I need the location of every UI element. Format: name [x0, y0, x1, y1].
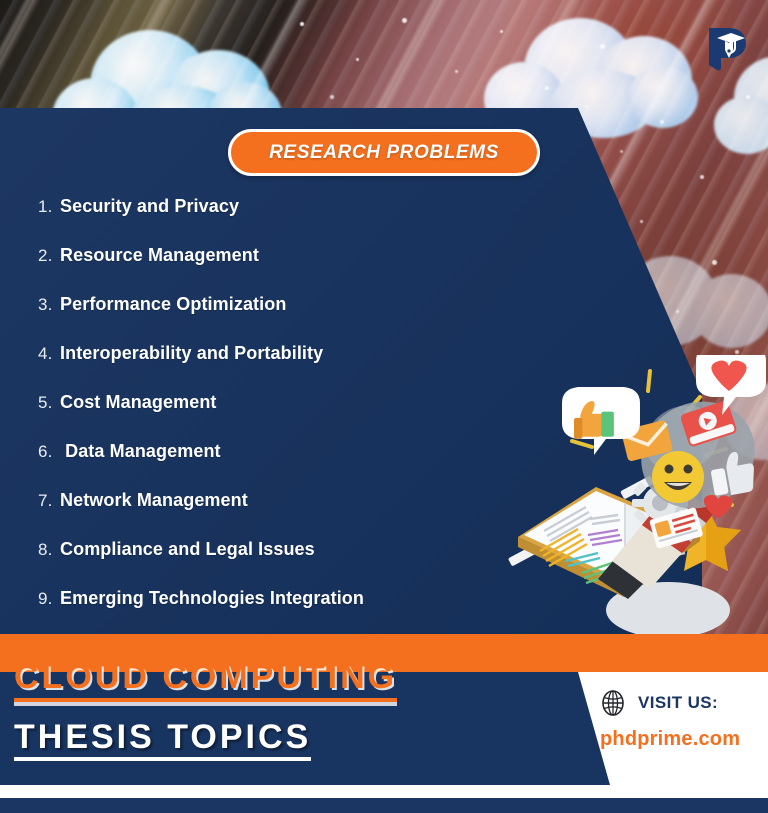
globe-icon — [600, 690, 626, 716]
list-item-label: Network Management — [60, 490, 248, 511]
list-item: 7. Network Management — [38, 490, 558, 539]
list-item-label: Compliance and Legal Issues — [60, 539, 315, 560]
list-item-number: 1. — [38, 197, 60, 217]
list-item-label: Security and Privacy — [60, 196, 239, 217]
list-item-number: 8. — [38, 540, 60, 560]
visit-us-block: VISIT US: phdprime.com — [600, 690, 740, 751]
list-item-label: Resource Management — [60, 245, 259, 266]
footer-title: CLOUD COMPUTING THESIS TOPICS — [14, 660, 574, 761]
list-item: 3. Performance Optimization — [38, 294, 558, 343]
visit-us-label: VISIT US: — [638, 693, 718, 713]
list-item-label: Interoperability and Portability — [60, 343, 323, 364]
list-item-label: Cost Management — [60, 392, 217, 413]
list-item-number: 5. — [38, 393, 60, 413]
list-item-label: Emerging Technologies Integration — [60, 588, 364, 609]
list-item: 2. Resource Management — [38, 245, 558, 294]
list-item: 4. Interoperability and Portability — [38, 343, 558, 392]
smiley-icon — [652, 451, 704, 503]
website-url[interactable]: phdprime.com — [600, 728, 740, 751]
research-problems-list: 1. Security and Privacy 2. Resource Mana… — [38, 196, 558, 637]
phdprime-logo — [705, 24, 749, 72]
research-problems-badge: RESEARCH PROBLEMS — [228, 129, 540, 176]
list-item-label: Performance Optimization — [60, 294, 286, 315]
list-item-number: 9. — [38, 589, 60, 609]
idea-book-rocket-illustration — [500, 355, 768, 645]
list-item: 1. Security and Privacy — [38, 196, 558, 245]
list-item-number: 7. — [38, 491, 60, 511]
list-item-number: 3. — [38, 295, 60, 315]
title-line-cloud-computing: CLOUD COMPUTING — [14, 660, 397, 702]
list-item: 5. Cost Management — [38, 392, 558, 441]
poster-canvas: RESEARCH PROBLEMS 1. Security and Privac… — [0, 0, 768, 813]
badge-label: RESEARCH PROBLEMS — [269, 142, 499, 164]
list-item: 8. Compliance and Legal Issues — [38, 539, 558, 588]
badge-pill: RESEARCH PROBLEMS — [228, 129, 540, 176]
list-item: 6. Data Management — [38, 441, 558, 490]
title-line-thesis-topics: THESIS TOPICS — [14, 720, 311, 762]
footer-gap — [0, 785, 768, 798]
list-item-number: 6. — [38, 442, 60, 462]
list-item: 9. Emerging Technologies Integration — [38, 588, 558, 637]
list-item-label: Data Management — [60, 441, 221, 462]
list-item-number: 2. — [38, 246, 60, 266]
list-item-number: 4. — [38, 344, 60, 364]
bottom-navy-strip — [0, 798, 768, 813]
